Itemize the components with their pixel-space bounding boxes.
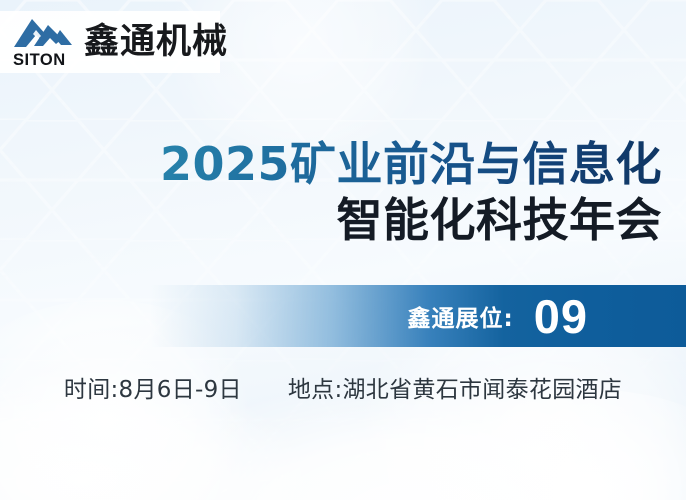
booth-number-banner: 鑫通展位: 09: [150, 285, 686, 347]
poster-headline: 2025矿业前沿与信息化 智能化科技年会: [22, 138, 662, 249]
booth-label: 鑫通展位:: [408, 299, 514, 333]
event-location: 地点:湖北省黄石市闻泰花园酒店: [288, 370, 622, 404]
event-time: 时间:8月6日-9日: [64, 370, 242, 404]
mountain-peaks-icon: SITON: [12, 17, 74, 67]
conference-poster: SITON 鑫通机械 2025矿业前沿与信息化 智能化科技年会 鑫通展位: 09…: [0, 0, 686, 500]
brand-chinese-name: 鑫通机械: [84, 25, 228, 60]
hexagon-pattern-background: [0, 0, 686, 500]
brand-latin-name: SITON: [13, 52, 66, 69]
event-details: 时间:8月6日-9日 地点:湖北省黄石市闻泰花园酒店: [0, 370, 686, 404]
brand-logo-panel: SITON 鑫通机械: [0, 11, 220, 73]
headline-line-1: 2025矿业前沿与信息化: [22, 138, 662, 191]
booth-number: 09: [534, 293, 588, 340]
background-glow-bottom: [430, 390, 686, 500]
headline-line-2: 智能化科技年会: [22, 193, 662, 248]
